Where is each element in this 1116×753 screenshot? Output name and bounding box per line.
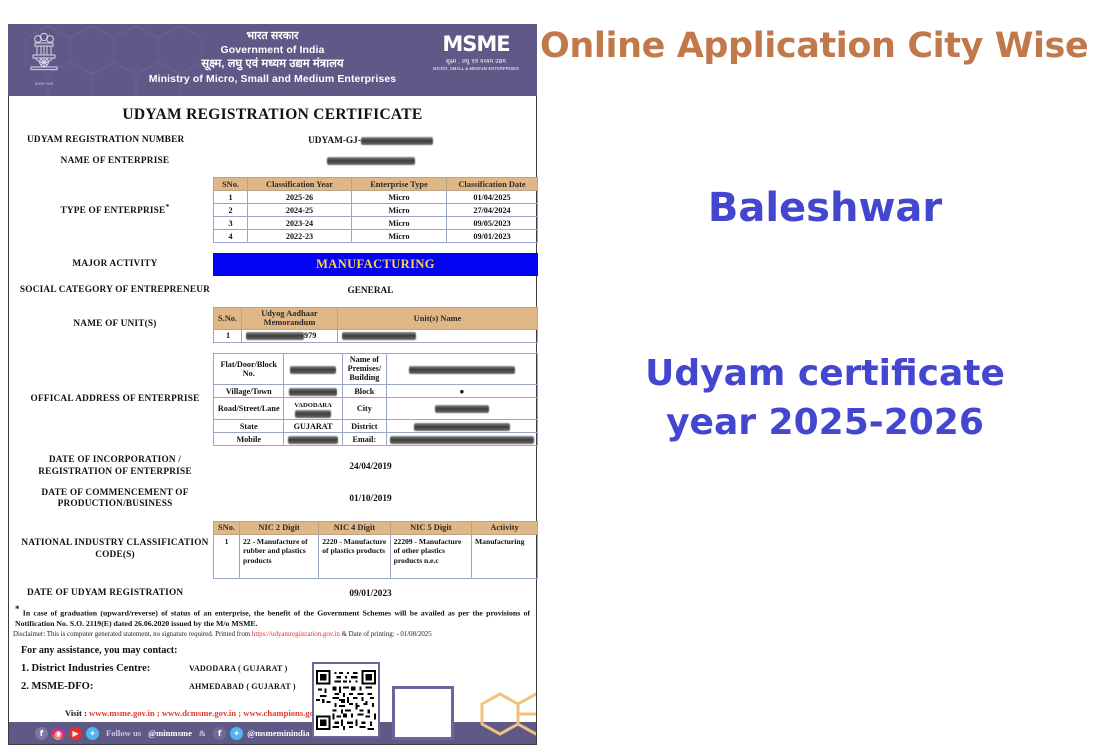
table-row: Village/Town Block ● [214, 384, 538, 397]
reg-number-label: UDYAM REGISTRATION NUMBER [17, 135, 213, 147]
cell-value [284, 433, 342, 446]
cell: 2022-23 [248, 230, 352, 243]
cell-key: City [342, 398, 386, 420]
facebook-icon[interactable]: f [35, 727, 48, 740]
city-name: Baleshwar [540, 185, 1110, 231]
field-nic-codes: NATIONAL INDUSTRY CLASSIFICATION CODE(S)… [9, 521, 536, 579]
cell-value [284, 353, 342, 384]
cell: 2023-24 [248, 217, 352, 230]
incorporation-value: 24/04/2019 [213, 462, 528, 472]
address-table: Flat/Door/Block No. Name of Premises/ Bu… [213, 353, 538, 447]
youtube-icon[interactable]: ▶ [69, 727, 82, 740]
cell: 4 [214, 230, 248, 243]
cell-value [387, 420, 538, 433]
cell-key: District [342, 420, 386, 433]
table-row: State GUJARAT District [214, 420, 538, 433]
qr-code-icon [316, 666, 376, 734]
type-of-enterprise-label-text: TYPE OF ENTERPRISE [60, 206, 165, 216]
cell-value [387, 433, 538, 446]
th-sno: S.No. [214, 307, 242, 329]
twitter-icon-secondary[interactable]: ✦ [230, 727, 243, 740]
nic-table: SNo. NIC 2 Digit NIC 4 Digit NIC 5 Digit… [213, 521, 538, 579]
enterprise-name-label: NAME OF ENTERPRISE [17, 156, 213, 168]
cell-key: Name of Premises/ Building [342, 353, 386, 384]
type-of-enterprise-label: TYPE OF ENTERPRISE* [17, 202, 213, 218]
cell: 09/01/2023 [447, 230, 538, 243]
field-incorporation-date: DATE OF INCORPORATION / REGISTRATION OF … [9, 455, 536, 478]
table-row: 32023-24Micro09/05/2023 [214, 217, 538, 230]
th-classification-year: Classification Year [248, 178, 352, 191]
visit-links[interactable]: www.msme.gov.in ; www.dcmsme.gov.in ; ww… [89, 708, 327, 718]
caption-line-1: Udyam certificate [540, 350, 1110, 399]
cell-value [387, 398, 538, 420]
msme-logo-mark: MSME [433, 34, 519, 55]
udyam-portal-link[interactable]: https://udyamregistration.gov.in [252, 631, 340, 638]
redacted-reg-number [361, 137, 433, 145]
cell: 2024-25 [248, 204, 352, 217]
table-row: Road/Street/Lane VADODARA City [214, 398, 538, 420]
table-row: Mobile Email: [214, 433, 538, 446]
cell: 2 [214, 204, 248, 217]
disclaimer: Disclaimer: This is computer generated s… [9, 629, 536, 638]
cell: Micro [352, 204, 447, 217]
nic-label: NATIONAL INDUSTRY CLASSIFICATION CODE(S) [17, 538, 213, 561]
cell-unit-name [338, 329, 538, 342]
ampersand: & [199, 728, 206, 738]
field-enterprise-name: NAME OF ENTERPRISE [9, 156, 536, 168]
cell: 27/04/2024 [447, 204, 538, 217]
field-official-address: OFFICAL ADDRESS OF ENTERPRISE Flat/Door/… [9, 353, 536, 447]
commencement-value: 01/10/2019 [213, 494, 528, 504]
major-activity-value: MANUFACTURING [213, 253, 538, 276]
qr-code-box [312, 662, 380, 738]
cell-value: GUJARAT [284, 420, 342, 433]
name-of-units-label: NAME OF UNIT(S) [17, 319, 213, 331]
page-title: Online Application City Wise [540, 26, 1110, 66]
cell: 1 [214, 329, 242, 342]
cell: 2220 - Manufacture of plastics products [319, 534, 390, 578]
disclaimer-post: & Date of printing: - 01/08/2025 [340, 631, 432, 638]
table-row: 12025-26Micro01/04/2025 [214, 191, 538, 204]
follow-us-text: Follow us [106, 728, 141, 738]
field-registration-number: UDYAM REGISTRATION NUMBER UDYAM-GJ- [9, 135, 536, 147]
cell: 22209 - Manufacture of other plastics pr… [390, 534, 471, 578]
th-nic2: NIC 2 Digit [240, 521, 319, 534]
contact-dic-value: VADODARA ( GUJARAT ) [189, 664, 287, 673]
enterprise-name-value [213, 156, 528, 166]
graduation-note-text: In case of graduation (upward/reverse) o… [15, 608, 530, 628]
major-activity-label: MAJOR ACTIVITY [17, 259, 213, 271]
official-address-label: OFFICAL ADDRESS OF ENTERPRISE [17, 394, 213, 406]
msme-logo: MSME सूक्ष्म , लघु एवं मध्यम उद्यम MICRO… [433, 34, 519, 71]
cell-value [284, 384, 342, 397]
field-social-category: SOCIAL CATEGORY OF ENTREPRENEUR GENERAL [9, 285, 536, 297]
field-name-of-units: NAME OF UNIT(S) S.No. Udyog Aadhaar Memo… [9, 307, 536, 343]
field-type-of-enterprise: TYPE OF ENTERPRISE* SNo. Classification … [9, 177, 536, 243]
th-unit-name: Unit(s) Name [338, 307, 538, 329]
caption-line-2: year 2025-2026 [540, 399, 1110, 448]
th-enterprise-type: Enterprise Type [352, 178, 447, 191]
table-row: Flat/Door/Block No. Name of Premises/ Bu… [214, 353, 538, 384]
contact-dic-label: 1. District Industries Centre: [21, 663, 189, 674]
cell: 1 [214, 534, 240, 578]
table-header-row: SNo. NIC 2 Digit NIC 4 Digit NIC 5 Digit… [214, 521, 538, 534]
visit-prefix: Visit : [65, 708, 89, 718]
cell: 1 [214, 191, 248, 204]
msme-logo-english: MICRO, SMALL & MEDIUM ENTERPRISES [433, 66, 519, 71]
table-row: 1 22 - Manufacture of rubber and plastic… [214, 534, 538, 578]
cell-value: VADODARA [284, 398, 342, 420]
type-of-enterprise-table: SNo. Classification Year Enterprise Type… [213, 177, 538, 243]
commencement-label: DATE OF COMMENCEMENT OF PRODUCTION/BUSIN… [17, 488, 213, 511]
screenshot-root: सत्यमेव जयते भारत सरकार Government of In… [0, 0, 1116, 753]
contact-dfo-label: 2. MSME-DFO: [21, 681, 189, 692]
th-sno: SNo. [214, 521, 240, 534]
cell: Micro [352, 217, 447, 230]
udyam-reg-date-label: DATE OF UDYAM REGISTRATION [17, 588, 213, 600]
cell: 3 [214, 217, 248, 230]
cell: Manufacturing [472, 534, 538, 578]
th-nic5: NIC 5 Digit [390, 521, 471, 534]
cell-key: State [214, 420, 284, 433]
cell-key: Mobile [214, 433, 284, 446]
certificate-body: UDYAM REGISTRATION CERTIFICATE UDYAM REG… [8, 96, 537, 745]
cell: 2025-26 [248, 191, 352, 204]
handle-msmeminindia[interactable]: @msmeminindia [247, 728, 309, 738]
udyam-reg-date-value: 09/01/2023 [213, 589, 528, 599]
field-major-activity: MAJOR ACTIVITY MANUFACTURING [9, 253, 536, 276]
incorporation-label: DATE OF INCORPORATION / REGISTRATION OF … [17, 455, 213, 478]
disclaimer-pre: Disclaimer: This is computer generated s… [13, 631, 252, 638]
cell: Micro [352, 230, 447, 243]
unit-table: S.No. Udyog Aadhaar Memorandum Unit(s) N… [213, 307, 538, 343]
cell: 09/05/2023 [447, 217, 538, 230]
cell-uam: 979 [242, 329, 338, 342]
ministry-english: Ministry of Micro, Small and Medium Ente… [8, 73, 537, 87]
reg-number-value: UDYAM-GJ- [213, 136, 528, 146]
th-sno: SNo. [214, 178, 248, 191]
th-uam: Udyog Aadhaar Memorandum [242, 307, 338, 329]
cell-key: Block [342, 384, 386, 397]
cell-value [387, 353, 538, 384]
cell: 01/04/2025 [447, 191, 538, 204]
redacted-enterprise-name [327, 157, 415, 165]
instagram-icon[interactable]: ◉ [52, 727, 65, 740]
certificate-header: सत्यमेव जयते भारत सरकार Government of In… [8, 24, 537, 96]
facebook-icon-secondary[interactable]: f [213, 727, 226, 740]
msme-logo-hindi: सूक्ष्म , लघु एवं मध्यम उद्यम [433, 57, 519, 65]
table-row: 22024-25Micro27/04/2024 [214, 204, 538, 217]
contact-dic: 1. District Industries Centre: VADODARA … [9, 656, 536, 674]
table-header-row: SNo. Classification Year Enterprise Type… [214, 178, 538, 191]
twitter-icon[interactable]: ✦ [86, 727, 99, 740]
th-activity: Activity [472, 521, 538, 534]
udyam-certificate: सत्यमेव जयते भारत सरकार Government of In… [8, 24, 537, 745]
cell-key: Road/Street/Lane [214, 398, 284, 420]
signature-box [392, 686, 454, 740]
social-category-label: SOCIAL CATEGORY OF ENTREPRENEUR [17, 285, 213, 297]
cell-key: Email: [342, 433, 386, 446]
cell-key: Village/Town [214, 384, 284, 397]
hexagon-decoration [452, 682, 536, 744]
table-row: 1 979 [214, 329, 538, 342]
certificate-title: UDYAM REGISTRATION CERTIFICATE [9, 96, 536, 133]
handle-minmsme[interactable]: @minmsme [148, 728, 192, 738]
cell-key: Flat/Door/Block No. [214, 353, 284, 384]
certificate-year-caption: Udyam certificate year 2025-2026 [540, 350, 1110, 447]
reg-number-prefix: UDYAM-GJ- [308, 136, 361, 146]
contact-dfo-value: AHMEDABAD ( GUJARAT ) [189, 682, 296, 691]
graduation-note: * In case of graduation (upward/reverse)… [9, 600, 536, 630]
cell: 22 - Manufacture of rubber and plastics … [240, 534, 319, 578]
cell-value: ● [387, 384, 538, 397]
table-header-row: S.No. Udyog Aadhaar Memorandum Unit(s) N… [214, 307, 538, 329]
th-classification-date: Classification Date [447, 178, 538, 191]
th-nic4: NIC 4 Digit [319, 521, 390, 534]
field-commencement-date: DATE OF COMMENCEMENT OF PRODUCTION/BUSIN… [9, 488, 536, 511]
table-row: 42022-23Micro09/01/2023 [214, 230, 538, 243]
cell: Micro [352, 191, 447, 204]
assistance-heading: For any assistance, you may contact: [9, 638, 536, 656]
field-udyam-registration-date: DATE OF UDYAM REGISTRATION 09/01/2023 [9, 588, 536, 600]
social-category-value: GENERAL [213, 286, 528, 296]
